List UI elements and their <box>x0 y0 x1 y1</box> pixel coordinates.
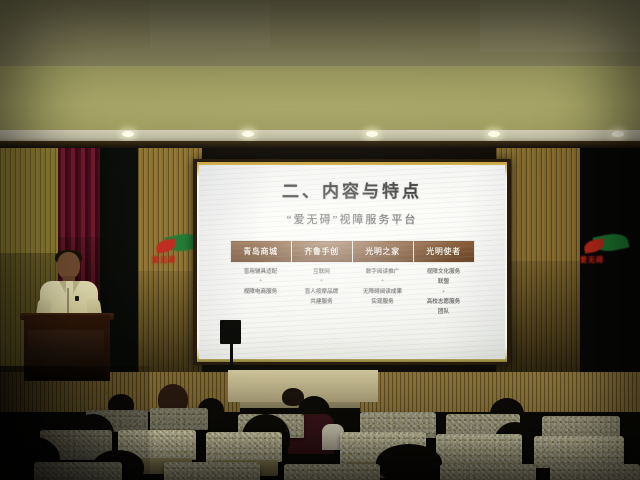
cell-line: 盲人按摩品牌 <box>305 289 339 295</box>
table-row: 盲用辅具适配 + 视障电商服务 互联网 + 盲人按摩品牌 共建服务 数字阅读推广 <box>230 263 474 324</box>
table-header-cell: 青岛商城 <box>230 241 291 263</box>
table-cell: 互联网 + 盲人按摩品牌 共建服务 <box>291 263 352 324</box>
cell-line: 联盟 <box>414 277 473 287</box>
table-cell: 数字阅读推广 + 无障碍阅读成果 实现服务 <box>352 263 413 324</box>
cell-plus: + <box>231 277 290 286</box>
slide-title: 二、内容与特点 <box>199 177 505 202</box>
ceiling-panel-seam-left <box>150 0 270 48</box>
cell-line: 无障碍阅读成果 <box>363 289 402 295</box>
cell-line: 团队 <box>414 307 473 317</box>
logo-text: 爱无碍 <box>152 255 176 265</box>
table-header-cell: 光明之家 <box>352 241 413 263</box>
logo-text: 爱无碍 <box>580 255 604 265</box>
seat <box>164 462 260 480</box>
presenter-collar-right <box>73 281 80 294</box>
presenter-collar-left <box>59 281 66 294</box>
ceiling-panel-seam-right <box>480 0 640 52</box>
stage-header-trim <box>0 141 640 148</box>
ceiling <box>0 0 640 72</box>
cell-line: 高校志愿服务 <box>427 299 461 305</box>
seat <box>150 408 208 430</box>
seat <box>440 464 536 480</box>
audience-area <box>0 366 640 480</box>
ceiling-downlight <box>122 131 134 137</box>
presentation-slide: 二、内容与特点 “爱无碍”视障服务平台 青岛商城 齐鲁手创 光明之家 光明使者 … <box>199 165 505 359</box>
ceiling-downlight <box>612 131 624 137</box>
cell-line: 视障文化服务 <box>427 269 461 275</box>
cell-line: 数字阅读推广 <box>366 269 400 275</box>
ceiling-downlight <box>366 131 378 137</box>
logo-red-swoosh-icon <box>155 238 177 253</box>
projection-screen: 二、内容与特点 “爱无碍”视障服务平台 青岛商城 齐鲁手创 光明之家 光明使者 … <box>199 165 505 359</box>
logo-red-swoosh-icon <box>583 238 605 253</box>
presenter-head <box>57 252 80 279</box>
cell-plus: + <box>353 277 412 286</box>
seat <box>206 432 282 462</box>
cell-line: 互联网 <box>313 269 330 275</box>
table-header-cell: 光明使者 <box>413 241 474 263</box>
table-header-row: 青岛商城 齐鲁手创 光明之家 光明使者 <box>230 241 474 263</box>
stage-loudspeaker <box>220 320 241 344</box>
seat <box>34 462 122 480</box>
ceiling-downlight <box>242 131 254 137</box>
seat <box>436 434 522 466</box>
table-header-cell: 齐鲁手创 <box>291 241 352 263</box>
auditorium-photo: 爱无碍 爱无碍 二、内容与特点 “爱无碍”视障服务平台 青岛商城 齐鲁手创 光明… <box>0 0 640 480</box>
seat <box>550 464 640 480</box>
cell-line: 视障电商服务 <box>244 289 278 295</box>
slide-table: 青岛商城 齐鲁手创 光明之家 光明使者 盲用辅具适配 + 视障电商服务 <box>230 240 475 324</box>
slide-subtitle: “爱无碍”视障服务平台 <box>199 211 505 227</box>
ceiling-downlight <box>488 131 500 137</box>
cell-line: 盲用辅具适配 <box>244 269 278 275</box>
seat <box>284 464 380 480</box>
table-cell: 盲用辅具适配 + 视障电商服务 <box>230 263 291 324</box>
cell-plus: + <box>292 277 351 286</box>
cell-line: 共建服务 <box>292 297 351 307</box>
cell-plus: + <box>414 288 473 297</box>
ceiling-upper-wall-band <box>0 66 640 136</box>
audience-head <box>376 444 442 480</box>
table-cell: 视障文化服务 联盟 + 高校志愿服务 团队 <box>413 263 474 324</box>
cell-line: 实现服务 <box>353 297 412 307</box>
venue-logo-icon: 爱无碍 <box>578 232 634 276</box>
clip-microphone-icon <box>75 296 79 301</box>
